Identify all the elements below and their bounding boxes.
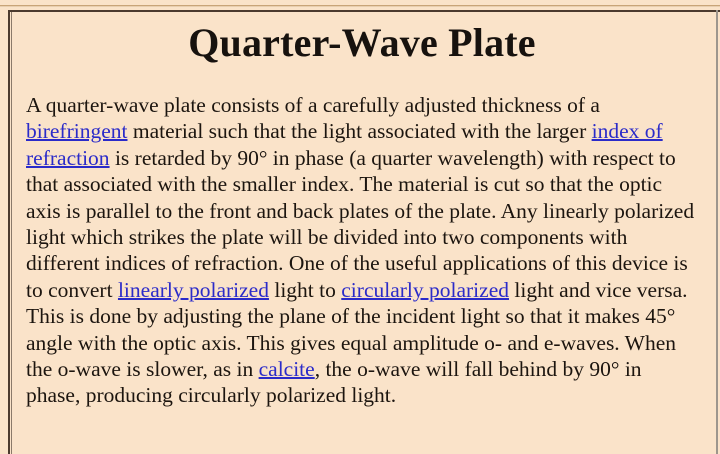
article-text: light to (269, 278, 341, 302)
article-body: A quarter-wave plate consists of a caref… (18, 92, 706, 409)
article-text: A quarter-wave plate consists of a caref… (26, 93, 600, 117)
content-inner: Quarter-Wave Plate A quarter-wave plate … (10, 12, 720, 454)
article-link[interactable]: linearly polarized (118, 278, 269, 302)
page-root: Quarter-Wave Plate A quarter-wave plate … (0, 0, 720, 454)
article-link[interactable]: calcite (259, 357, 315, 381)
article-text: material such that the light associated … (128, 119, 592, 143)
right-border-rule (716, 10, 718, 454)
article-link[interactable]: birefringent (26, 119, 128, 143)
content-frame: Quarter-Wave Plate A quarter-wave plate … (8, 10, 720, 454)
page-title: Quarter-Wave Plate (18, 22, 706, 64)
article-link[interactable]: circularly polarized (341, 278, 509, 302)
top-border-rule-secondary (0, 6, 720, 7)
